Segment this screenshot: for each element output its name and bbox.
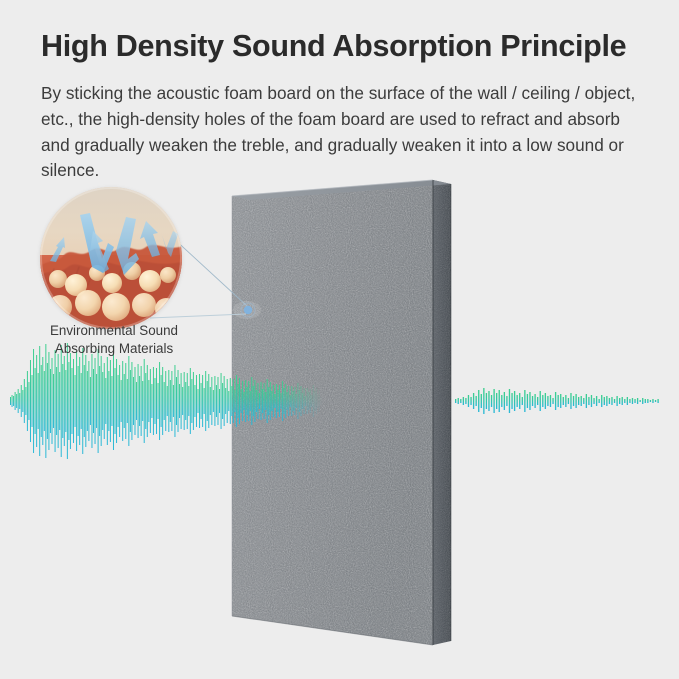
infographic-canvas: High Density Sound Absorption Principle … xyxy=(0,0,679,679)
magnifier-contents xyxy=(40,187,182,329)
callout-caption: Environmental Sound Absorbing Materials xyxy=(24,322,204,358)
microscopic-foam-closeup xyxy=(40,187,182,329)
panel-front-face xyxy=(232,180,433,645)
caption-line-1: Environmental Sound xyxy=(24,322,204,340)
caption-line-2: Absorbing Materials xyxy=(24,340,204,358)
panel-side-face xyxy=(433,180,451,645)
